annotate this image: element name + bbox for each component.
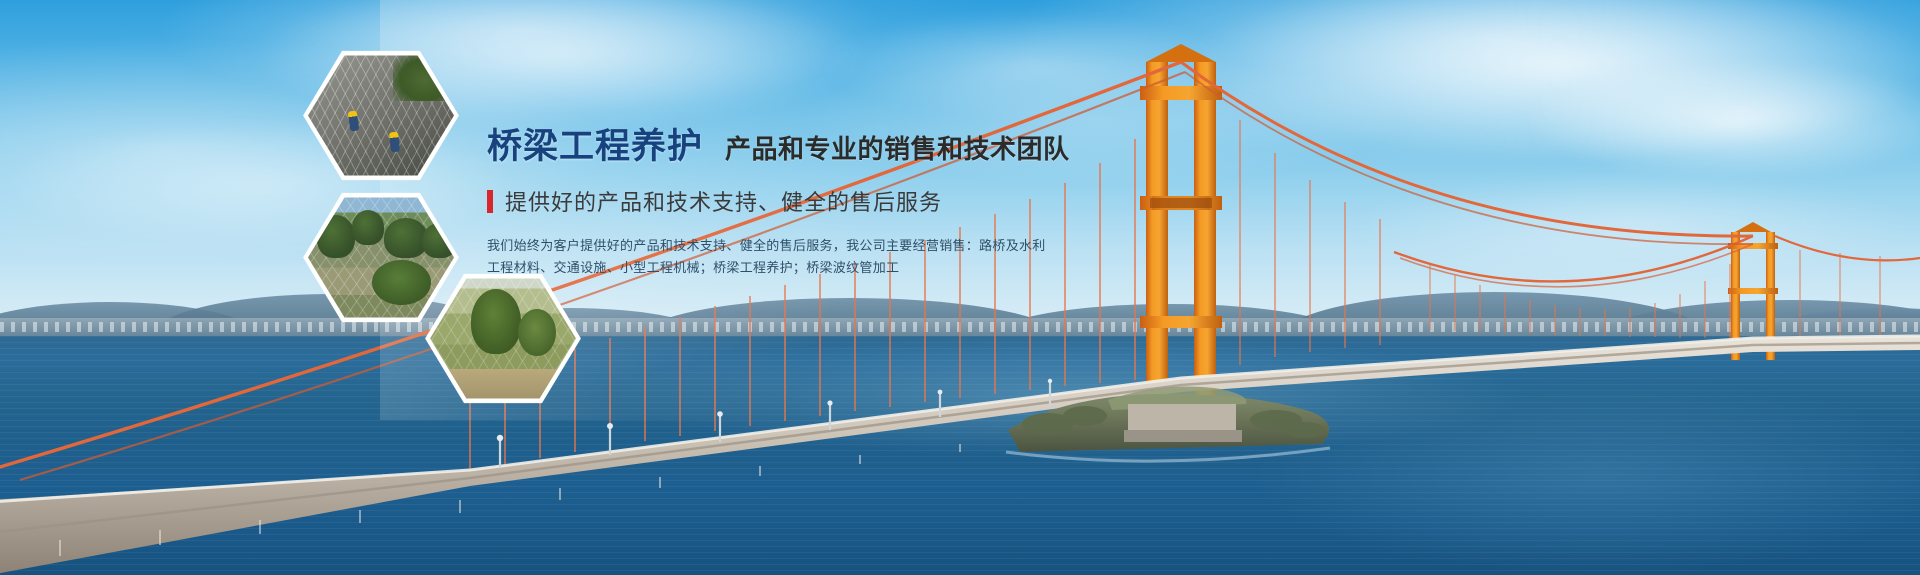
description-line-1: 我们始终为客户提供好的产品和技术支持、健全的售后服务，我公司主要经营销售：路桥及… (487, 235, 1127, 257)
worker-figure (389, 131, 400, 152)
hero-banner: 桥梁工程养护 产品和专业的销售和技术团队 提供好的产品和技术支持、健全的售后服务… (0, 0, 1920, 575)
bridge-main-tower (1140, 44, 1222, 407)
worker-figure (348, 110, 360, 131)
banner-copy: 桥梁工程养护 产品和专业的销售和技术团队 提供好的产品和技术支持、健全的售后服务… (487, 118, 1127, 279)
tree (471, 289, 521, 354)
far-span-hangers (1430, 250, 1880, 342)
headline-secondary: 产品和专业的销售和技术团队 (725, 129, 1070, 166)
subheadline-text: 提供好的产品和技术支持、健全的售后服务 (505, 185, 942, 217)
description-line-2: 工程材料、交通设施、小型工程机械；桥梁工程养护；桥梁波纹管加工 (487, 257, 1127, 279)
hex-thumbnail-rock-slope[interactable] (303, 48, 459, 183)
tree (317, 215, 355, 258)
hex-thumbnail-hillside[interactable] (303, 190, 459, 325)
description-block: 我们始终为客户提供好的产品和技术支持、健全的售后服务，我公司主要经营销售：路桥及… (487, 235, 1127, 279)
accent-bar (487, 190, 493, 213)
subheadline-row: 提供好的产品和技术支持、健全的售后服务 (487, 185, 1127, 217)
dirt-band (430, 369, 576, 402)
headline-row: 桥梁工程养护 产品和专业的销售和技术团队 (487, 118, 1127, 169)
tree (518, 309, 556, 357)
hex-thumbnail-grass-slope[interactable] (425, 271, 581, 406)
bush (372, 260, 430, 305)
tree (352, 210, 384, 245)
headline-primary: 桥梁工程养护 (487, 118, 703, 169)
